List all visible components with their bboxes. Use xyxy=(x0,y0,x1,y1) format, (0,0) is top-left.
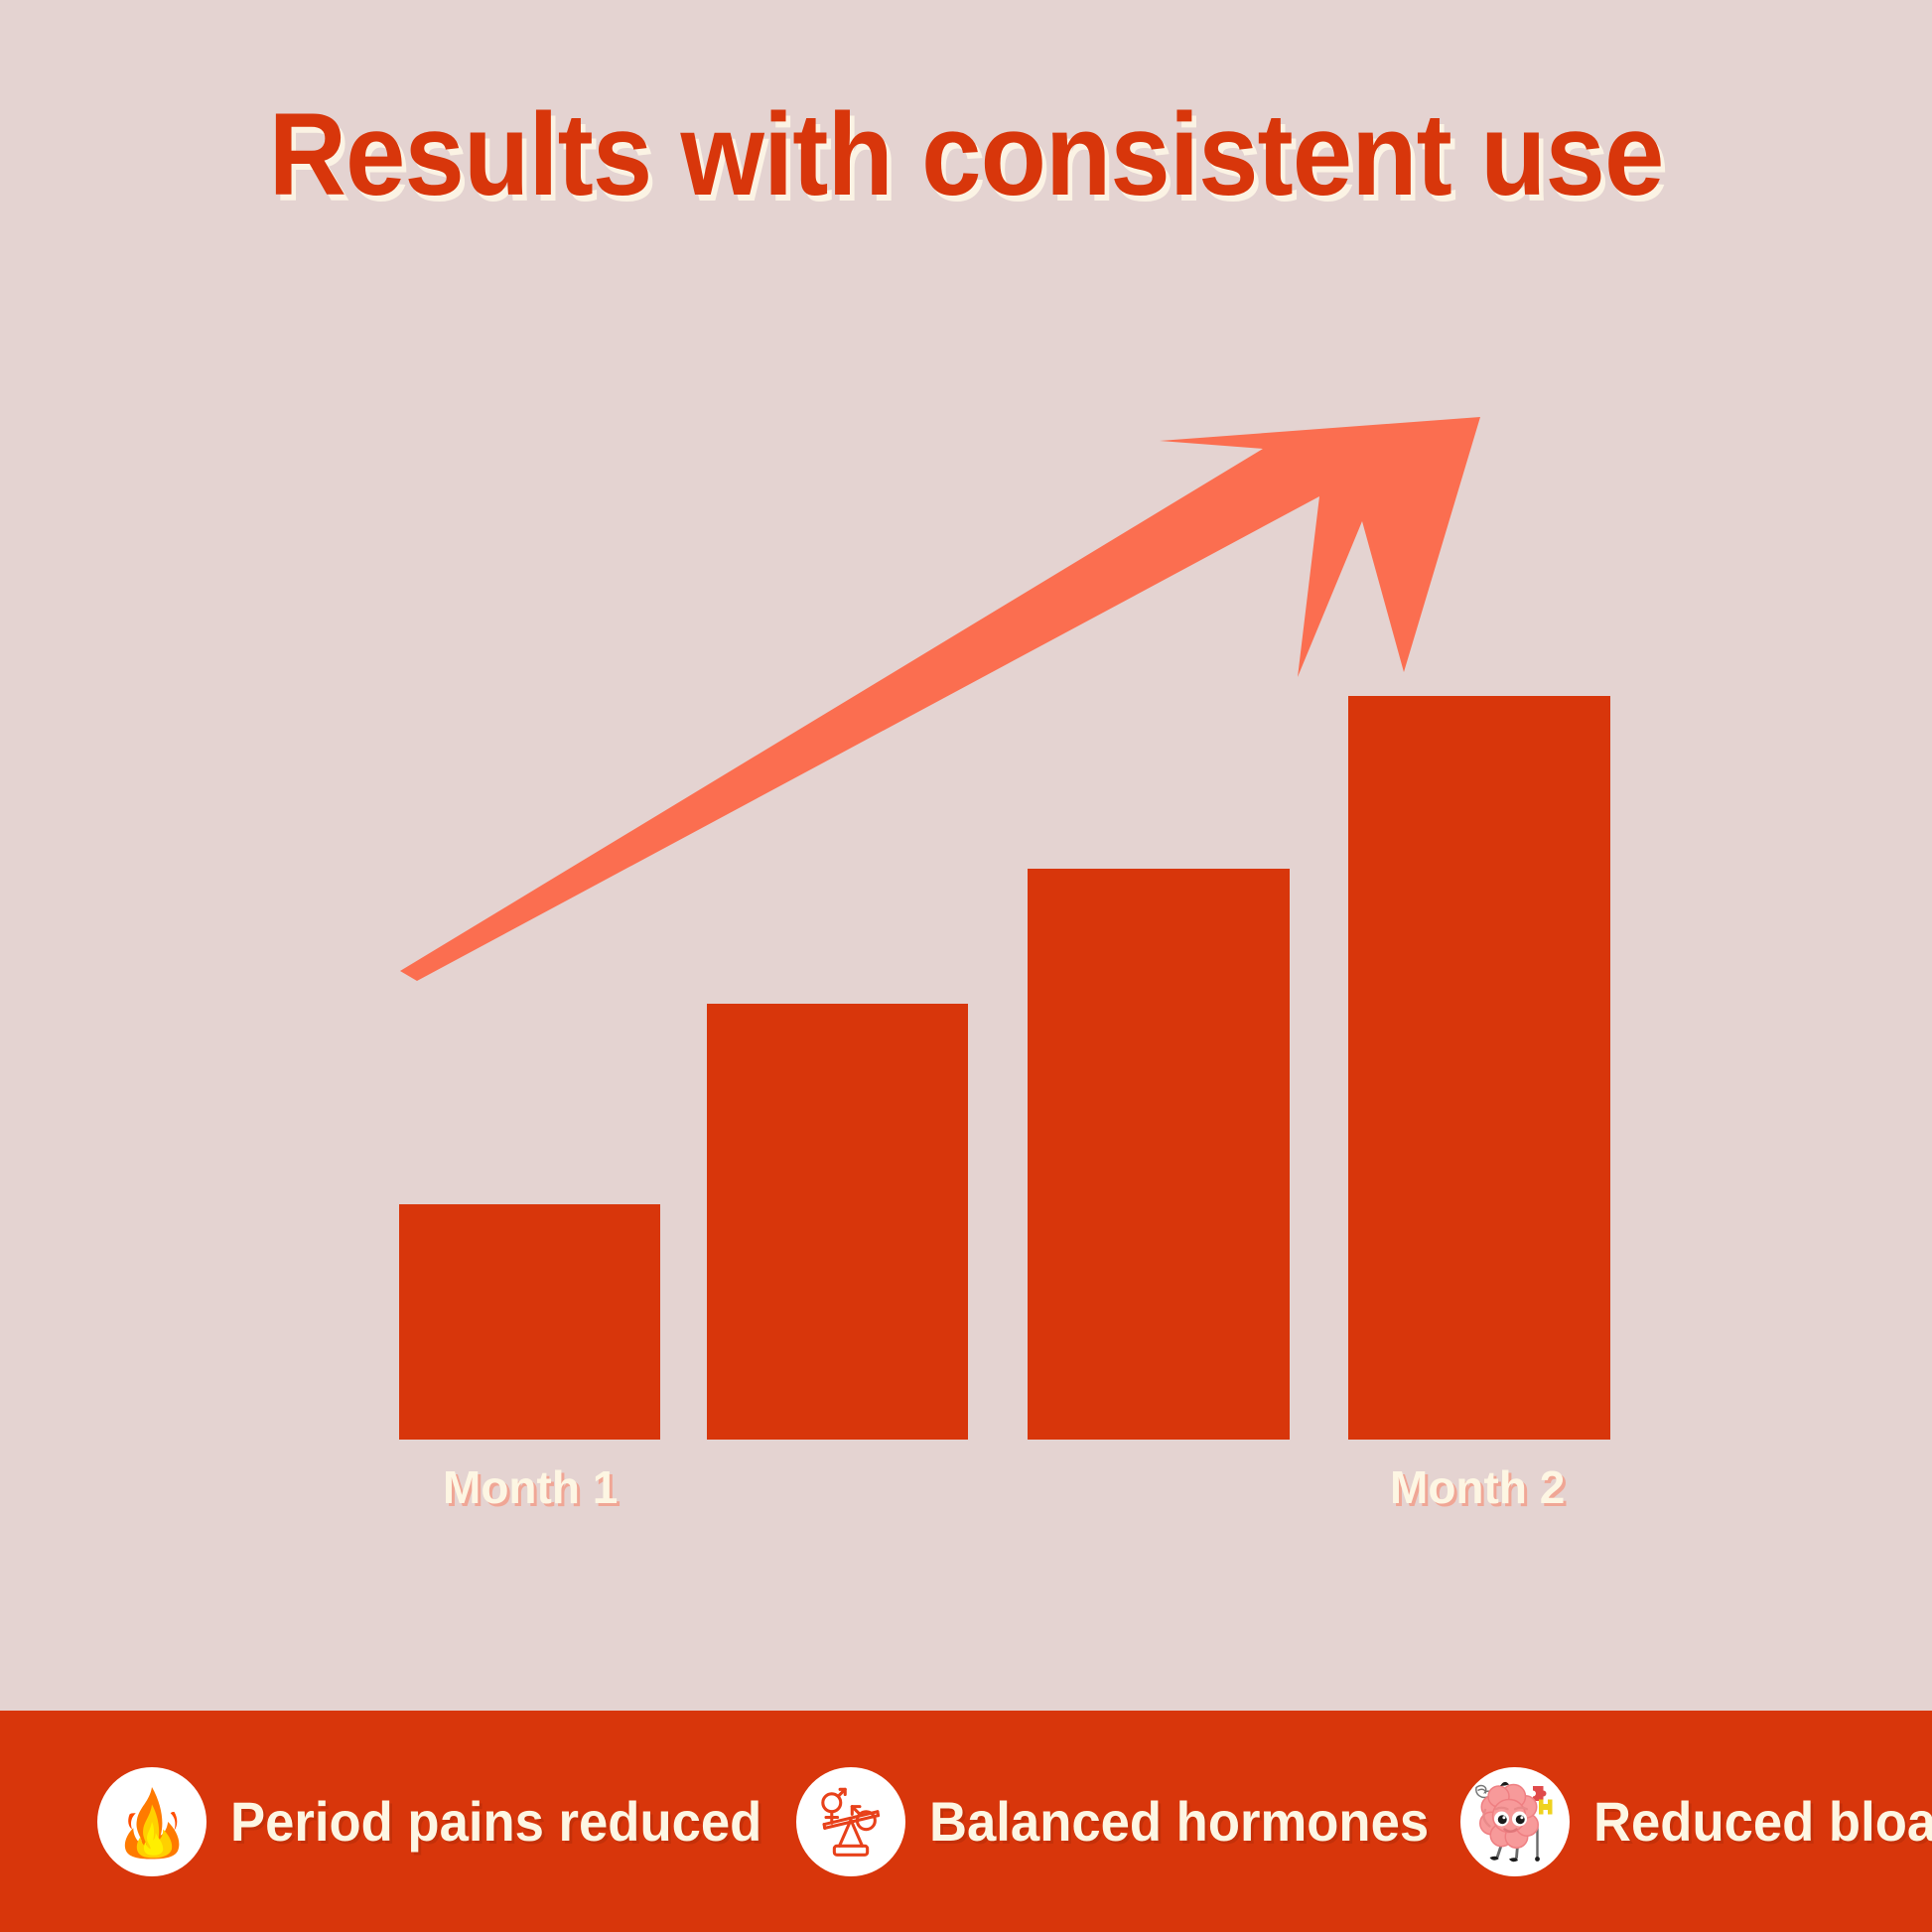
hormone-balance-scale-icon xyxy=(796,1767,905,1876)
brain-character-icon xyxy=(1460,1767,1570,1876)
bar-chart: Month 1 Month 2 xyxy=(0,0,1932,1711)
benefit-label: Reduced bloating xyxy=(1593,1793,1932,1851)
benefit-label: Period pains reduced xyxy=(230,1793,761,1851)
axis-label-month-1: Month 1 xyxy=(443,1462,618,1512)
chart-bar xyxy=(707,1004,968,1440)
poster-canvas: Results with consistent use Month 1 Mont… xyxy=(0,0,1932,1932)
benefit-item-balanced-hormones[interactable]: Balanced hormones xyxy=(796,1767,1460,1876)
chart-bar xyxy=(1028,869,1290,1440)
chart-bar xyxy=(399,1204,660,1440)
chart-bar xyxy=(1348,696,1610,1440)
benefit-label: Balanced hormones xyxy=(929,1793,1429,1851)
benefits-footer-bar: Period pains reduced xyxy=(0,1711,1932,1932)
growth-arrow-icon xyxy=(0,0,1932,1711)
benefit-item-period-pains[interactable]: Period pains reduced xyxy=(97,1767,796,1876)
benefits-list: Period pains reduced xyxy=(40,1767,1892,1876)
flame-icon xyxy=(97,1767,207,1876)
benefit-item-reduced-bloating[interactable]: Reduced bloating xyxy=(1460,1767,1932,1876)
axis-label-month-2: Month 2 xyxy=(1390,1462,1565,1512)
